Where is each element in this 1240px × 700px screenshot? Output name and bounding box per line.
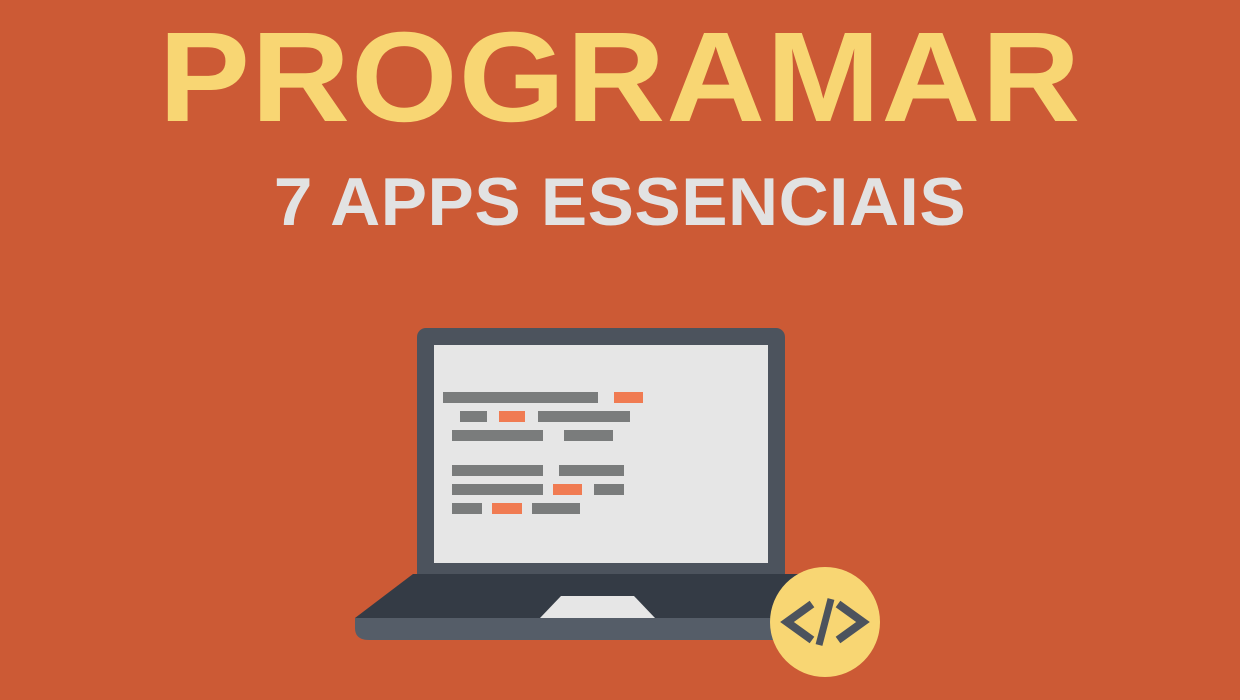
- code-line-segment: [559, 465, 624, 476]
- laptop-screen: [434, 345, 768, 563]
- code-lines-group: [434, 345, 768, 563]
- poster-canvas: PROGRAMAR 7 APPS ESSENCIAIS: [0, 0, 1240, 700]
- code-line-segment: [564, 430, 613, 441]
- code-line-segment: [452, 503, 482, 514]
- laptop-illustration: [0, 0, 1240, 700]
- code-line-segment: [594, 484, 624, 495]
- code-line-segment: [443, 392, 598, 403]
- code-line-segment: [499, 411, 525, 422]
- code-line-segment: [452, 484, 543, 495]
- code-line-segment: [553, 484, 582, 495]
- laptop-trackpad: [540, 596, 655, 618]
- code-line-segment: [492, 503, 522, 514]
- code-line-segment: [614, 392, 643, 403]
- code-line-segment: [532, 503, 580, 514]
- code-line-segment: [452, 465, 543, 476]
- code-line-segment: [538, 411, 630, 422]
- code-line-segment: [460, 411, 487, 422]
- code-line-segment: [452, 430, 543, 441]
- code-badge: [770, 567, 880, 677]
- code-slash-icon: [770, 567, 880, 677]
